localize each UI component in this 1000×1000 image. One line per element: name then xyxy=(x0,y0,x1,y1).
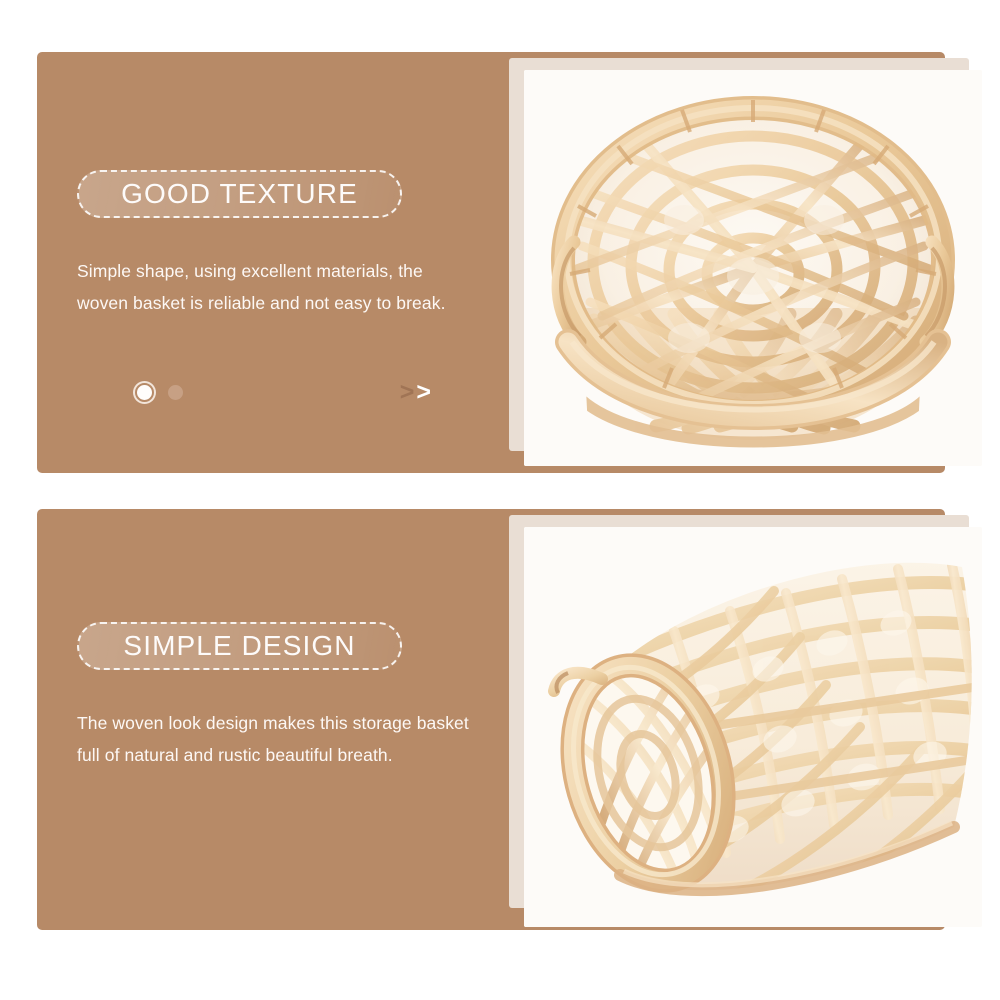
product-photo-side-view xyxy=(524,527,982,927)
feature-description: The woven look design makes this storage… xyxy=(77,708,477,772)
card-footer: > > xyxy=(77,380,437,405)
photo-stack xyxy=(472,58,982,468)
product-feature-page: GOOD TEXTURE Simple shape, using excelle… xyxy=(0,0,1000,1000)
card-text-block: SIMPLE DESIGN The woven look design make… xyxy=(77,622,507,772)
chevron-right-dim-icon[interactable]: > xyxy=(400,380,415,405)
feature-description: Simple shape, using excellent materials,… xyxy=(77,256,477,320)
chevron-right-lit-icon[interactable]: > xyxy=(416,380,431,405)
product-photo-top-view xyxy=(524,70,982,466)
feature-title-pill: GOOD TEXTURE xyxy=(77,170,402,218)
photo-stack xyxy=(472,515,982,925)
feature-card-good-texture: GOOD TEXTURE Simple shape, using excelle… xyxy=(37,52,945,473)
carousel-dot-2[interactable] xyxy=(168,385,183,400)
next-arrows[interactable]: > > xyxy=(400,380,437,405)
carousel-dot-1[interactable] xyxy=(135,383,154,402)
carousel-dots[interactable] xyxy=(77,383,183,402)
woven-basket-side-illustration xyxy=(524,527,982,927)
feature-card-simple-design: SIMPLE DESIGN The woven look design make… xyxy=(37,509,945,930)
woven-basket-top-illustration xyxy=(524,70,982,466)
feature-title-pill: SIMPLE DESIGN xyxy=(77,622,402,670)
card-text-block: GOOD TEXTURE Simple shape, using excelle… xyxy=(77,170,507,320)
